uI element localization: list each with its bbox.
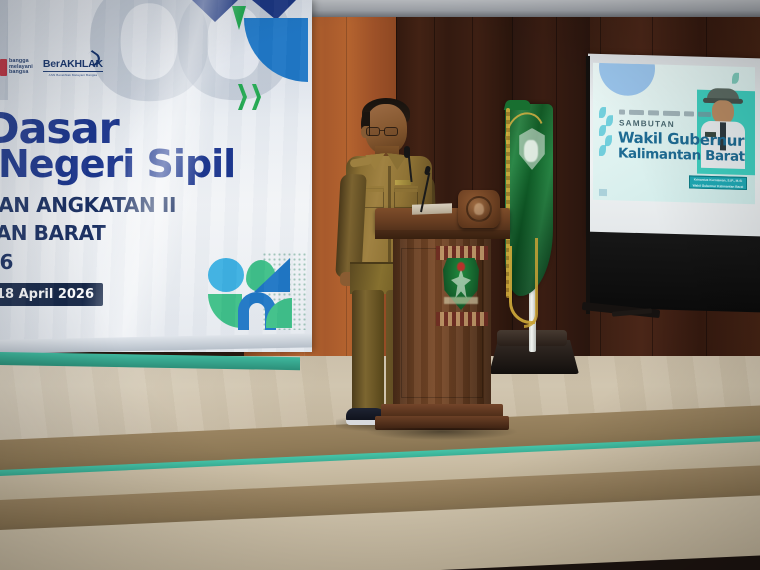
microphone-head-1 (404, 146, 410, 158)
uniform-pocket-flap-right (394, 186, 418, 192)
projected-slide: SAMBUTAN Wakil Gubernur Kalimantan Barat… (593, 63, 755, 205)
speech-paper (412, 203, 452, 214)
slide-nameplate: Krisantus Kurniawan, S.IP., M.Si Wakil G… (689, 175, 747, 190)
province-emblem-scroll (444, 297, 478, 304)
screen-post (586, 56, 590, 314)
province-emblem-top-mark (457, 262, 465, 271)
slide-leaf-decor-column (599, 107, 615, 163)
screen-skirt (588, 232, 760, 313)
banner-date-badge: 18 April 2026 (0, 283, 103, 306)
banner-title-line-2: Negeri Sipil (0, 142, 235, 186)
slide-corner-mark-icon (599, 189, 607, 196)
banner-subtitle-line-2: TAN BARAT (0, 221, 105, 245)
podium-woven-trim-top (436, 246, 488, 260)
slide-leaf-icon (732, 73, 739, 84)
banner-subtitle-line-1: DAN ANGKATAN II (0, 193, 176, 217)
podium-woven-trim-bottom (436, 312, 488, 326)
medallion-crest-icon (474, 203, 484, 215)
podium-top-lip (375, 230, 510, 239)
slide-logo-row (619, 107, 711, 118)
banner-geometric-pattern (208, 258, 290, 330)
pattern-quarter-green (208, 294, 242, 328)
bangga-melayani-bangsa-logo: bangga melayani bangsa (0, 59, 33, 76)
podium-floor-shadow (367, 428, 517, 440)
flag-gold-cord-2 (524, 238, 538, 328)
screen-surface: SAMBUTAN Wakil Gubernur Kalimantan Barat… (588, 54, 760, 241)
photo-scene: I O O bangga melayani bangsa BerAKHLAK A… (0, 0, 760, 570)
slide-blue-circle (599, 63, 655, 97)
berakhlak-tagline: ASN Berakhlak Melayani Bangsa (43, 71, 103, 77)
pattern-circle-blue (208, 258, 244, 292)
eyeglasses-icon (366, 127, 402, 136)
projector-screen: SAMBUTAN Wakil Gubernur Kalimantan Barat… (588, 56, 760, 356)
slide-heading-line-2: Kalimantan Barat (618, 145, 745, 165)
bmb-line-3: bangsa (9, 70, 33, 76)
banner-subtitle-line-3: 26 (0, 250, 13, 274)
slide-eyebrow: SAMBUTAN (619, 118, 675, 129)
event-backdrop-banner: I O O bangga melayani bangsa BerAKHLAK A… (0, 0, 312, 352)
bmb-mark-icon (0, 59, 7, 76)
uniform-chest-ribbon (395, 180, 411, 185)
